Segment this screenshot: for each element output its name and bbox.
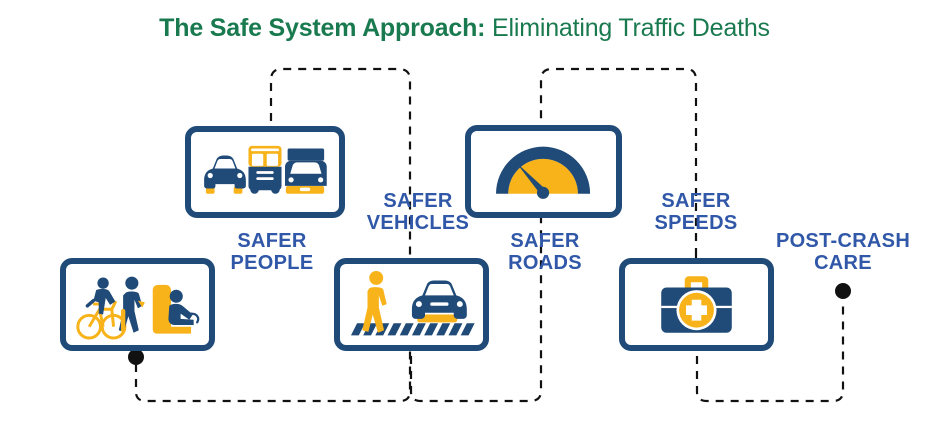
pillar-label-safer-people: SAFER PEOPLE bbox=[214, 230, 330, 275]
infographic-canvas: The Safe System Approach: Eliminating Tr… bbox=[0, 0, 929, 431]
pillar-card-safer-people[interactable] bbox=[60, 258, 215, 351]
people-cyclist-pedestrian-driver-icon bbox=[66, 264, 209, 345]
pillar-card-safer-vehicles[interactable] bbox=[185, 126, 345, 218]
vehicles-car-bus-truck-icon bbox=[191, 132, 339, 212]
pillar-label-safer-roads: SAFER ROADS bbox=[490, 230, 600, 275]
endpoint-dot-post-crash-care bbox=[835, 283, 851, 299]
pillar-label-safer-speeds: SAFER SPEEDS bbox=[637, 190, 755, 235]
first-aid-kit-icon bbox=[625, 264, 768, 345]
roads-crosswalk-pedestrian-car-icon bbox=[340, 264, 483, 345]
pillar-card-safer-roads[interactable] bbox=[334, 258, 489, 351]
pillar-label-safer-vehicles: SAFER VEHICLES bbox=[355, 190, 481, 235]
pillar-card-safer-speeds[interactable] bbox=[465, 125, 622, 218]
pillar-label-post-crash-care: POST-CRASH CARE bbox=[757, 230, 929, 275]
endpoint-dot-safer-people bbox=[128, 349, 144, 365]
speedometer-gauge-icon bbox=[471, 131, 616, 212]
pillar-card-post-crash-care[interactable] bbox=[619, 258, 774, 351]
